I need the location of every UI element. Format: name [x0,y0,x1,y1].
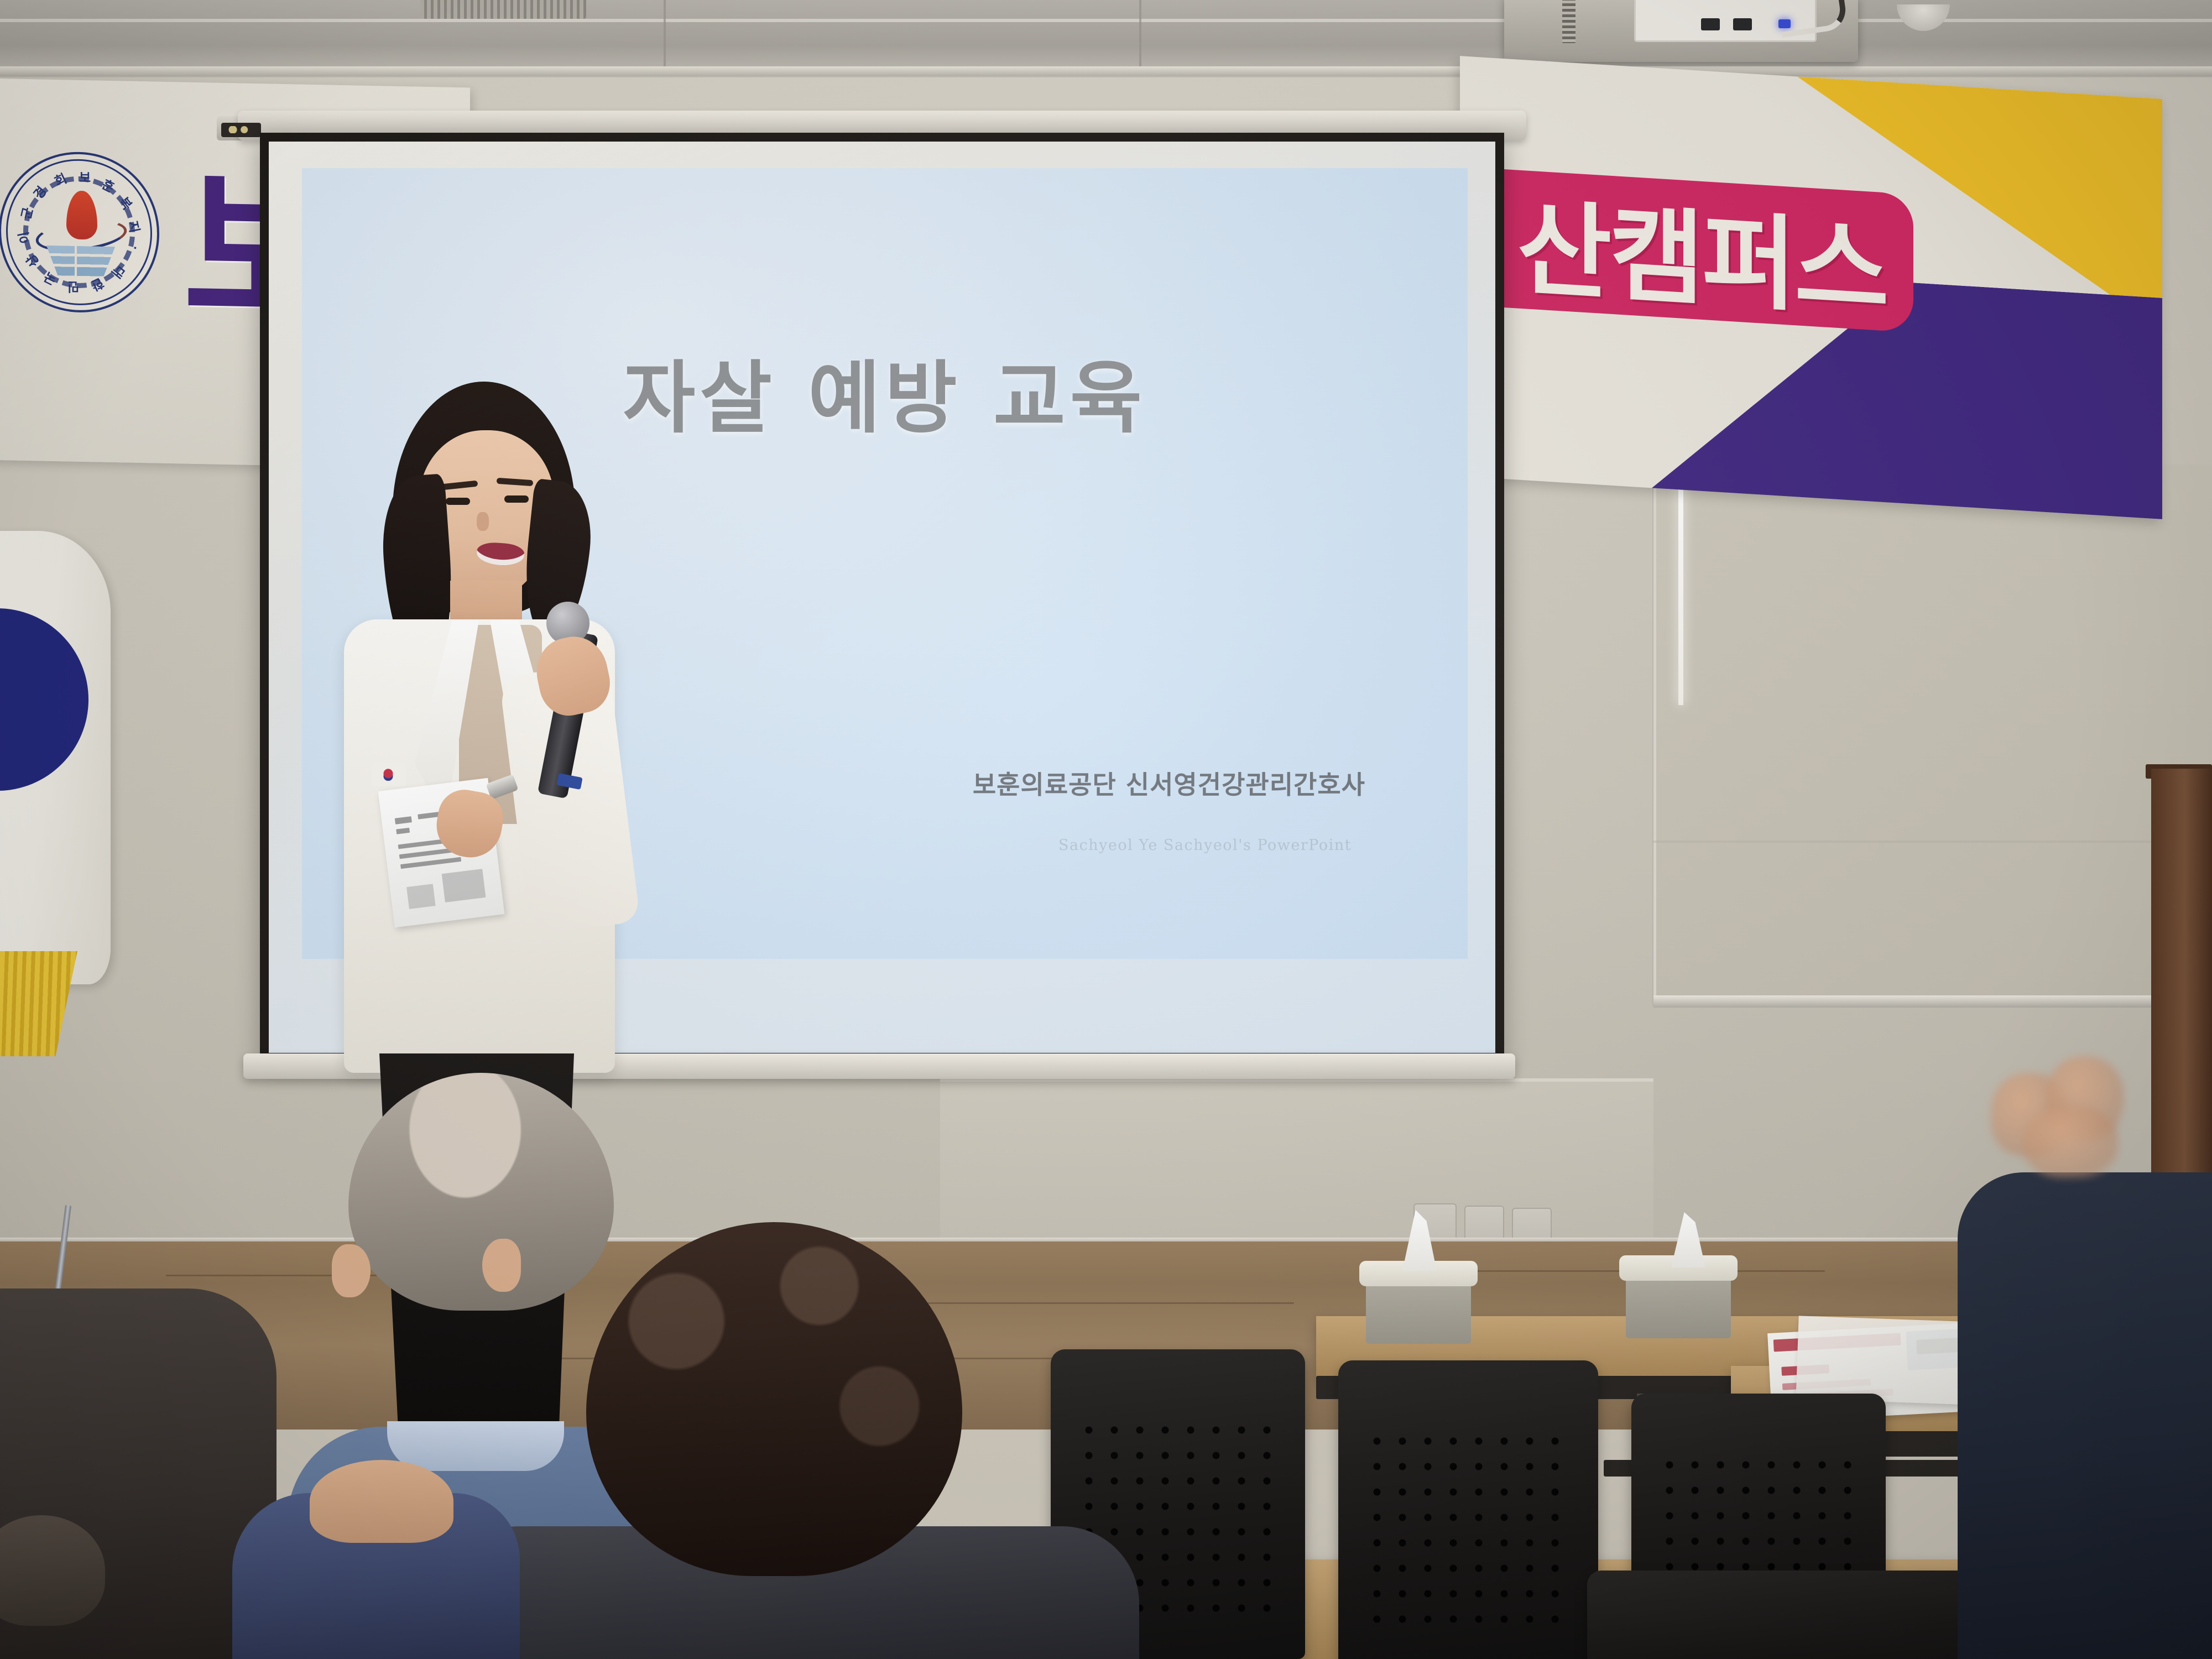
chair[interactable] [1338,1360,1598,1659]
speaker-nose [477,512,489,531]
wall-seam [1653,841,2212,843]
speaker-eye [446,498,470,505]
slide-watermark: Sachyeol Ye Sachyeol's PowerPoint [1058,837,1352,854]
ceiling-tile-seam [0,19,2212,22]
projector-vent-icon [1562,0,1575,43]
wall-panel-right [1653,465,2212,1001]
lecture-room-photo: 보훈복지·대한민국상이군경회 보 산캠퍼스 자살 예방 교육 보훈의료공단 신서… [0,0,2212,1659]
projector-port-icon [1733,18,1752,30]
ceiling-seam [1139,0,1141,66]
projector-port-icon [1701,18,1720,30]
slide-presenter-credit: 보훈의료공단 신서영건강관리간호사 [973,765,1365,801]
tissue-box [1366,1277,1471,1344]
wall-light-strip-icon [1678,473,1683,705]
shirt-collar [387,1421,564,1471]
chair-perforations [1364,1428,1572,1633]
clapping-hand [2024,1106,2118,1178]
emblem-ring-text: 보훈복지·대한민국상이군경회 [9,160,149,304]
audience-ear [482,1239,521,1292]
banner-right: 산캠퍼스 [1460,56,2162,519]
tissue-box [1626,1272,1731,1338]
audience-navy-jacket [1958,1172,2212,1659]
wall-trim [1653,995,2212,1008]
banner-badge: 산캠퍼스 [1460,159,1913,332]
audience-ear [332,1244,371,1297]
ceiling-seam [664,0,666,66]
ceiling-vent-icon [420,0,586,19]
banner-badge-text: 산캠퍼스 [1517,164,1887,336]
korean-flag-pin-icon [372,763,406,786]
screen-mount-icon [221,123,261,137]
organization-emblem-icon: 보훈복지·대한민국상이군경회 [0,150,159,314]
ceiling-edge-trim [0,66,2212,76]
audience-shoulder-skin [310,1460,453,1543]
speaker-eye [504,495,529,503]
